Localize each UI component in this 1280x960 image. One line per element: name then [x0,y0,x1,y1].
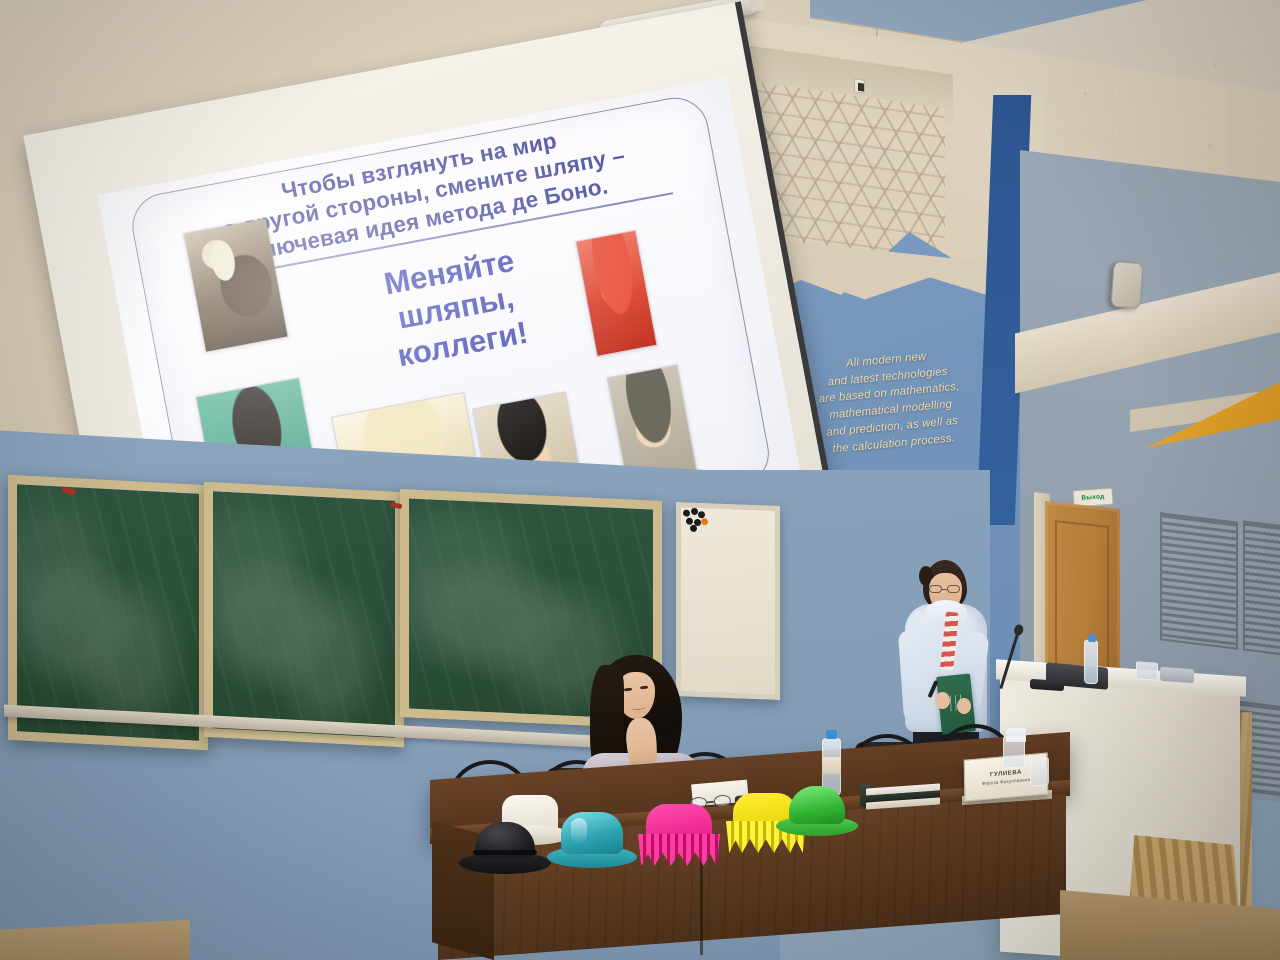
slide-center-text: Меняйте шляпы, коллеги! [330,233,581,383]
hat-teal-fedora [547,812,637,868]
magnet-cluster [683,508,709,531]
hat-pink-tinsel [636,804,722,866]
ventilation-grille-2 [1243,520,1280,655]
drinking-glass-2 [1003,735,1025,768]
presenter-right-hand [957,698,971,714]
lectern-device [1160,667,1194,683]
wall-speaker-icon [1110,261,1143,309]
lectern-glass [1136,661,1158,681]
water-bottle-cap [826,730,837,739]
chalkboard-panel-2 [204,482,404,747]
lecture-hall-photo: All modern new and latest technologies a… [0,0,1280,960]
wall-sensor-icon [854,78,865,94]
lectern-water-bottle [1084,640,1098,685]
water-bottle-label [822,757,841,774]
presenter-glasses-icon [929,585,962,593]
hat-green-bowler [776,786,858,836]
ventilation-grille-1 [1160,512,1238,650]
drinking-glass-1 [1030,758,1049,787]
hat-black-bowler [459,824,551,872]
slide-photo-woman-red-hat-red-top [575,230,658,357]
exit-sign-label: Выход [1081,493,1105,502]
presenter-left-hand [935,692,950,709]
